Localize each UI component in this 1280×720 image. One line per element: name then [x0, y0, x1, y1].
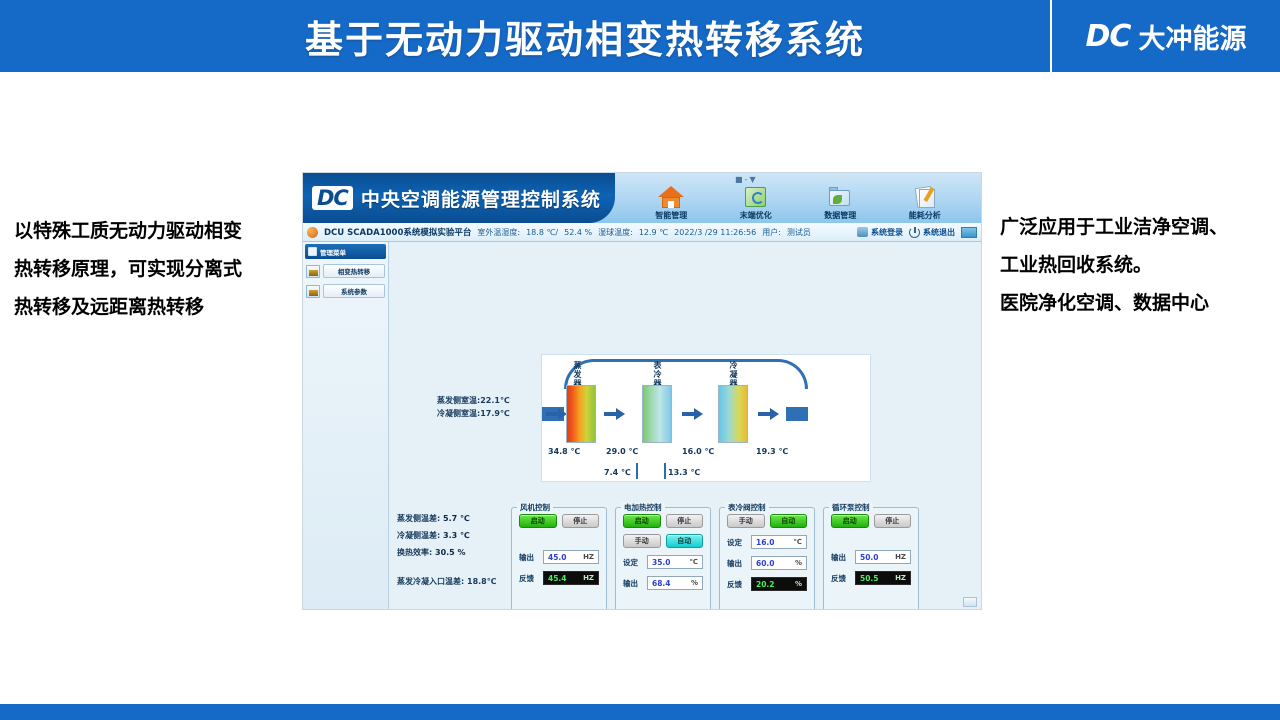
outdoor-temp-value: 18.8 ℃/	[526, 228, 558, 237]
pump-feedback-label: 反馈	[831, 573, 851, 584]
evaporator-room-temp-label: 蒸发侧室温:	[437, 396, 480, 405]
stat-unit: ℃	[460, 531, 470, 540]
pump-feedback-row: 反馈 50.5 HZ	[824, 571, 918, 585]
stat-row: 蒸发侧温差: 5.7 ℃	[397, 510, 470, 527]
valve-setpoint-label: 设定	[727, 537, 747, 548]
control-mode-row: 手动 自动	[720, 514, 814, 528]
heater-setpoint-unit: ℃	[690, 558, 698, 566]
strip-end-icon[interactable]	[961, 227, 977, 238]
login-label: 系统登录	[871, 227, 903, 238]
valve-setpoint-value: 16.0	[756, 538, 775, 547]
condenser-room-temp-label: 冷凝侧室温:	[437, 409, 480, 418]
valve-manual-button[interactable]: 手动	[727, 514, 765, 528]
sidebar-header-label: 管理菜单	[320, 247, 346, 257]
flow-arrow-head-4	[770, 408, 779, 420]
control-group-circulation-pump: 循环泵控制 启动 停止 输出 50.0 HZ 反馈 50.5 HZ	[823, 507, 919, 610]
heater-setpoint-label: 设定	[623, 557, 643, 568]
loop-pipe	[564, 359, 808, 389]
performance-stats: 蒸发侧温差: 5.7 ℃ 冷凝侧温差: 3.3 ℃ 换热效率: 30.5 %	[397, 510, 470, 561]
label-surface-cooler: 表冷器	[652, 361, 663, 388]
stat-unit: %	[458, 548, 466, 557]
stat-unit: ℃	[460, 514, 470, 523]
platform-icon	[307, 227, 318, 238]
label-condenser: 冷凝器	[728, 361, 739, 388]
caption-right-line-1: 广泛应用于工业洁净空调、	[1000, 208, 1270, 246]
heater-start-button[interactable]: 启动	[623, 514, 661, 528]
pump-output-row: 输出 50.0 HZ	[824, 550, 918, 564]
nav-item-terminal-optimization[interactable]: 末端优化	[720, 185, 792, 221]
valve-feedback-row: 反馈 20.2 %	[720, 577, 814, 591]
scada-screenshot: DC 中央空调能源管理控制系统 ■-▼ 智能管理 末端优化 数据管理	[302, 172, 982, 610]
brand-logo: DC 大冲能源	[1050, 0, 1280, 72]
air-temp-4: 19.3 ℃	[756, 447, 788, 456]
inlet-temp-difference: 蒸发冷凝入口温差: 18.8℃	[397, 576, 496, 587]
fan-output-label: 输出	[519, 552, 539, 563]
valve-output-value: 60.0	[756, 559, 775, 568]
surface-cooler-coil	[642, 385, 672, 443]
user-label: 用户:	[762, 227, 781, 238]
outdoor-humidity-value: 52.4 %	[564, 228, 592, 237]
evaporator-room-temp-value: 22.1℃	[480, 396, 509, 405]
water-divider-2	[664, 463, 666, 479]
control-mode-row: 手动 自动	[616, 534, 710, 548]
nav-item-data-management[interactable]: 数据管理	[804, 185, 876, 221]
air-temp-1: 34.8 ℃	[548, 447, 580, 456]
scada-status-strip: DCU SCADA1000系统模拟实验平台 室外温湿度: 18.8 ℃/ 52.…	[303, 223, 981, 242]
fan-output-row: 输出 45.0 HZ	[512, 550, 606, 564]
valve-feedback-label: 反馈	[727, 579, 747, 590]
scada-logo-area: DC 中央空调能源管理控制系统	[303, 173, 615, 223]
heater-manual-button[interactable]: 手动	[623, 534, 661, 548]
control-group-title: 表冷阀控制	[725, 502, 769, 513]
control-button-row: 启动 停止	[824, 514, 918, 528]
user-value: 测试员	[787, 227, 811, 238]
page-title: 基于无动力驱动相变热转移系统	[0, 9, 1050, 64]
dc-logo-icon: DC	[312, 186, 353, 210]
stat-label: 蒸发侧温差:	[397, 514, 440, 523]
pump-output-label: 输出	[831, 552, 851, 563]
scada-workspace: 蒸发侧室温:22.1℃ 冷凝侧室温:17.9℃ 蒸发器 表冷器 冷凝器	[389, 242, 981, 610]
nav-label: 智能管理	[655, 210, 687, 221]
water-divider-1	[636, 463, 638, 479]
valve-feedback-field: 20.2 %	[751, 577, 807, 591]
sidebar-item-phase-change-heat-transfer[interactable]: 相变热转移	[306, 264, 385, 278]
valve-setpoint-row: 设定 16.0 ℃	[720, 535, 814, 549]
window-controls[interactable]: ■-▼	[735, 175, 758, 184]
heater-output-unit: %	[691, 579, 698, 587]
stat-value: 5.7	[443, 514, 457, 523]
control-button-row: 启动 停止	[512, 514, 606, 528]
air-temp-3: 16.0 ℃	[682, 447, 714, 456]
scada-banner: DC 中央空调能源管理控制系统 ■-▼ 智能管理 末端优化 数据管理	[303, 173, 981, 223]
nav-label: 数据管理	[824, 210, 856, 221]
nav-label: 能耗分析	[909, 210, 941, 221]
scada-sidebar: 管理菜单 相变热转移 系统参数	[303, 242, 389, 610]
valve-output-label: 输出	[727, 558, 747, 569]
menu-icon	[308, 247, 317, 256]
system-logout-button[interactable]: 系统退出	[909, 227, 955, 238]
caption-right: 广泛应用于工业洁净空调、 工业热回收系统。 医院净化空调、数据中心	[1000, 208, 1270, 322]
caption-left-line-1: 以特殊工质无动力驱动相变	[14, 212, 284, 250]
fan-output-field[interactable]: 45.0 HZ	[543, 550, 599, 564]
fan-output-unit: HZ	[583, 553, 594, 561]
home-icon	[658, 185, 684, 209]
brand-name: 大冲能源	[1138, 17, 1246, 56]
inlet-temp-difference-value: 18.8℃	[467, 577, 496, 586]
folder-leaf-icon	[827, 185, 853, 209]
wetbulb-label: 湿球温度:	[598, 227, 633, 238]
stat-row: 冷凝侧温差: 3.3 ℃	[397, 527, 470, 544]
nav-item-energy-analysis[interactable]: 能耗分析	[889, 185, 961, 221]
nav-label: 末端优化	[740, 210, 772, 221]
caption-left-line-3: 热转移及远距离热转移	[14, 288, 284, 326]
water-temp-1: 7.4 ℃	[604, 468, 631, 477]
scada-body: 管理菜单 相变热转移 系统参数 蒸发侧室温:22.1℃ 冷凝侧室温:17.9℃	[303, 242, 981, 610]
room-temperature-readouts: 蒸发侧室温:22.1℃ 冷凝侧室温:17.9℃	[437, 394, 510, 420]
fan-feedback-row: 反馈 45.4 HZ	[512, 571, 606, 585]
heater-output-row: 输出 68.4 %	[616, 576, 710, 590]
fan-feedback-unit: HZ	[583, 574, 594, 582]
heater-stop-button[interactable]: 停止	[666, 514, 704, 528]
condenser-room-temp-value: 17.9℃	[480, 409, 509, 418]
valve-output-row: 输出 60.0 %	[720, 556, 814, 570]
chart-icon	[306, 265, 320, 278]
datetime: 2022/3 /29 11:26:56	[674, 228, 756, 237]
scada-app-title: 中央空调能源管理控制系统	[361, 185, 601, 212]
sidebar-item-label: 系统参数	[323, 284, 385, 298]
valve-output-unit: %	[795, 559, 802, 567]
water-temp-2: 13.3 ℃	[668, 468, 700, 477]
scada-nav: 智能管理 末端优化 数据管理 能耗分析	[615, 173, 981, 223]
caption-left-line-2: 热转移原理，可实现分离式	[14, 250, 284, 288]
wetbulb-value: 12.9 ℃	[639, 228, 668, 237]
control-group-title: 电加热控制	[621, 502, 665, 513]
fan-feedback-value: 45.4	[548, 574, 567, 583]
flow-arrow-head-3	[694, 408, 703, 420]
condenser-room-temp: 冷凝侧室温:17.9℃	[437, 407, 510, 420]
evaporator-coil	[566, 385, 596, 443]
heater-output-value: 68.4	[652, 579, 671, 588]
fan-feedback-label: 反馈	[519, 573, 539, 584]
pump-feedback-field: 50.5 HZ	[855, 571, 911, 585]
air-temp-2: 29.0 ℃	[606, 447, 638, 456]
stat-row: 换热效率: 30.5 %	[397, 544, 470, 561]
slide-footer	[0, 704, 1280, 720]
login-icon	[857, 227, 868, 237]
nav-item-smart-management[interactable]: 智能管理	[635, 185, 707, 221]
heater-auto-button[interactable]: 自动	[666, 534, 704, 548]
power-icon	[909, 227, 920, 238]
caption-right-line-3: 医院净化空调、数据中心	[1000, 284, 1270, 322]
pump-output-field[interactable]: 50.0 HZ	[855, 550, 911, 564]
heater-setpoint-row: 设定 35.0 ℃	[616, 555, 710, 569]
pump-start-button[interactable]: 启动	[831, 514, 869, 528]
pump-stop-button[interactable]: 停止	[874, 514, 912, 528]
heater-setpoint-value: 35.0	[652, 558, 671, 567]
pump-output-unit: HZ	[895, 553, 906, 561]
control-button-row: 启动 停止	[616, 514, 710, 528]
slide-header: 基于无动力驱动相变热转移系统 DC 大冲能源	[0, 0, 1280, 72]
control-group-cooling-valve: 表冷阀控制 手动 自动 设定 16.0 ℃ 输出 60.0 %	[719, 507, 815, 610]
outlet-duct	[786, 407, 808, 421]
stat-label: 冷凝侧温差:	[397, 531, 440, 540]
valve-auto-button[interactable]: 自动	[770, 514, 808, 528]
fan-start-button[interactable]: 启动	[519, 514, 557, 528]
pump-feedback-unit: HZ	[895, 574, 906, 582]
flow-arrow-head-2	[616, 408, 625, 420]
stat-value: 3.3	[443, 531, 457, 540]
control-group-title: 循环泵控制	[829, 502, 873, 513]
fan-output-value: 45.0	[548, 553, 567, 562]
sidebar-item-label: 相变热转移	[323, 264, 385, 278]
valve-setpoint-field[interactable]: 16.0 ℃	[751, 535, 807, 549]
stat-value: 30.5	[435, 548, 455, 557]
platform-title: DCU SCADA1000系统模拟实验平台	[324, 226, 471, 238]
control-group-electric-heater: 电加热控制 启动 停止 手动 自动 设定 35.0 ℃ 输出	[615, 507, 711, 610]
outdoor-label: 室外温湿度:	[477, 227, 520, 238]
caption-left: 以特殊工质无动力驱动相变 热转移原理，可实现分离式 热转移及远距离热转移	[14, 212, 284, 326]
evaporator-room-temp: 蒸发侧室温:22.1℃	[437, 394, 510, 407]
heater-output-field[interactable]: 68.4 %	[647, 576, 703, 590]
refresh-square-icon	[743, 185, 769, 209]
valve-feedback-value: 20.2	[756, 580, 775, 589]
sidebar-item-system-parameters[interactable]: 系统参数	[306, 284, 385, 298]
brand-mark-icon: DC	[1086, 19, 1131, 54]
logout-label: 系统退出	[923, 227, 955, 238]
heater-setpoint-field[interactable]: 35.0 ℃	[647, 555, 703, 569]
pump-output-value: 50.0	[860, 553, 879, 562]
sidebar-header: 管理菜单	[305, 244, 386, 259]
resize-handle[interactable]	[963, 597, 977, 607]
pump-feedback-value: 50.5	[860, 574, 879, 583]
valve-setpoint-unit: ℃	[794, 538, 802, 546]
chart-icon	[306, 285, 320, 298]
report-pen-icon	[912, 185, 938, 209]
valve-feedback-unit: %	[795, 580, 802, 588]
heater-output-label: 输出	[623, 578, 643, 589]
process-diagram: 蒸发器 表冷器 冷凝器 34.8 ℃ 29.0 ℃ 16.0 ℃	[541, 354, 871, 482]
label-evaporator: 蒸发器	[572, 361, 583, 388]
valve-output-field[interactable]: 60.0 %	[751, 556, 807, 570]
stat-label: 换热效率:	[397, 548, 432, 557]
fan-stop-button[interactable]: 停止	[562, 514, 600, 528]
inlet-temp-difference-label: 蒸发冷凝入口温差:	[397, 577, 464, 586]
control-group-title: 风机控制	[517, 502, 553, 513]
condenser-coil	[718, 385, 748, 443]
system-login-button[interactable]: 系统登录	[857, 227, 903, 238]
caption-right-line-2: 工业热回收系统。	[1000, 246, 1270, 284]
control-group-fan: 风机控制 启动 停止 输出 45.0 HZ 反馈 45.4 HZ	[511, 507, 607, 610]
fan-feedback-field: 45.4 HZ	[543, 571, 599, 585]
